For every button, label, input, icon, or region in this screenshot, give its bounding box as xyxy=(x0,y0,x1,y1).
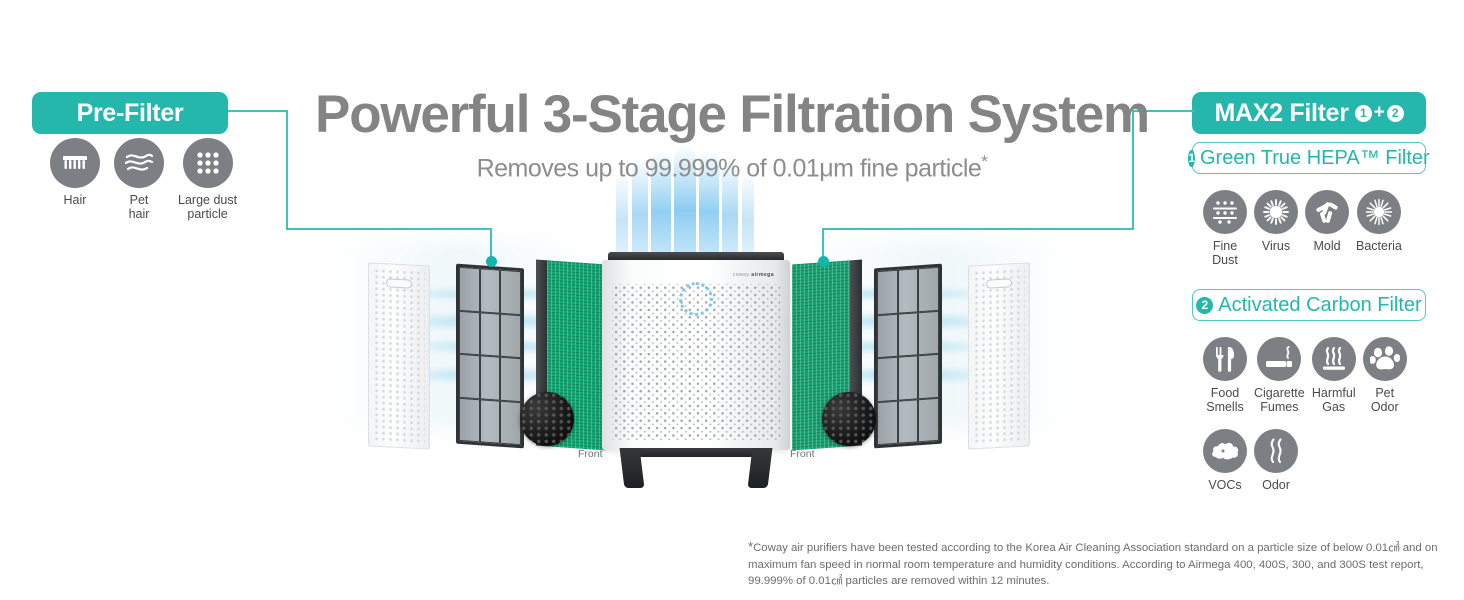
carbon-icon-label: Cigarette Fumes xyxy=(1254,386,1305,415)
airflow-beam xyxy=(742,170,754,262)
carbon-number-icon: 2 xyxy=(1196,297,1213,314)
filter-handle xyxy=(386,278,412,288)
front-label-right: Front xyxy=(790,448,815,460)
carbon-disc-left xyxy=(520,392,574,446)
heat-waves-icon xyxy=(1312,337,1356,381)
carbon-icon-label: Harmful Gas xyxy=(1312,386,1356,415)
brand-name: airmega xyxy=(751,272,774,278)
paw-print-icon-glyph xyxy=(1370,345,1400,373)
brand-prefix: coway xyxy=(733,272,750,278)
hepa-grid xyxy=(877,267,939,445)
fine-dust-icon-glyph xyxy=(1211,199,1239,225)
hepa-icon-label: Fine Dust xyxy=(1212,239,1238,268)
cigarette-icon xyxy=(1257,337,1301,381)
air-purifier-unit: coway airmega xyxy=(602,252,790,464)
hepa-icon-virus: Virus xyxy=(1254,190,1298,268)
carbon-icon-food-smells: Food Smells xyxy=(1203,337,1247,415)
pre-filter-panel-right xyxy=(968,262,1030,449)
unit-body: coway airmega xyxy=(602,260,790,450)
infographic-canvas: Powerful 3-Stage Filtration System Remov… xyxy=(0,0,1464,600)
hepa-filter-panel-right xyxy=(874,264,942,449)
hepa-icon-fine-dust: Fine Dust xyxy=(1203,190,1247,268)
cloud-icon xyxy=(1203,429,1247,473)
heat-waves-icon-glyph xyxy=(1321,345,1347,373)
page-subtitle: Removes up to 99.999% of 0.01μm fine par… xyxy=(0,152,1464,183)
odor-waves-icon-glyph xyxy=(1265,437,1287,465)
bacteria-icon-glyph xyxy=(1364,197,1394,227)
pre-filter-icon-label: Pet hair xyxy=(129,193,150,222)
page-title: Powerful 3-Stage Filtration System xyxy=(0,84,1464,145)
virus-icon-glyph xyxy=(1261,197,1291,227)
carbon-disc-right xyxy=(822,392,876,446)
carbon-icon-harmful-gas: Harmful Gas xyxy=(1312,337,1356,415)
hepa-grid xyxy=(459,267,521,445)
hepa-icon-label: Bacteria xyxy=(1356,239,1402,253)
hepa-icon-row: Fine Dust Virus xyxy=(1203,190,1402,268)
carbon-icon-cigarette-fumes: Cigarette Fumes xyxy=(1254,337,1305,415)
carbon-icon-label: Food Smells xyxy=(1206,386,1244,415)
filter-handle xyxy=(986,278,1012,288)
pre-filter-icon-label: Large dust particle xyxy=(178,193,237,222)
footnote-text: Coway air purifiers have been tested acc… xyxy=(748,542,1438,587)
brand-logo: coway airmega xyxy=(733,272,774,278)
carbon-icon-pet-odor: Pet Odor xyxy=(1363,337,1407,415)
cloud-icon-glyph xyxy=(1210,440,1240,462)
paw-print-icon xyxy=(1363,337,1407,381)
virus-icon xyxy=(1254,190,1298,234)
hepa-icon-label: Virus xyxy=(1262,239,1290,253)
left-connector-dot xyxy=(486,256,497,267)
hepa-icon-bacteria: Bacteria xyxy=(1356,190,1402,268)
carbon-icon-odor: Odor xyxy=(1254,429,1298,492)
filter-clip xyxy=(469,264,482,269)
carbon-icon-row-1: Food Smells Cigarette Fumes xyxy=(1203,337,1407,415)
carbon-icon-label: Pet Odor xyxy=(1371,386,1399,415)
pre-filter-icon-label: Hair xyxy=(64,193,87,207)
odor-waves-icon xyxy=(1254,429,1298,473)
product-scene: Front Front xyxy=(330,180,1070,520)
mold-icon-glyph xyxy=(1313,198,1341,226)
footnote: *Coway air purifiers have been tested ac… xyxy=(748,538,1450,590)
right-connector-dot xyxy=(818,256,829,267)
carbon-icon-vocs: VOCs xyxy=(1203,429,1247,492)
airflow-beam xyxy=(616,170,628,262)
fork-knife-icon xyxy=(1203,337,1247,381)
pre-filter-panel-left xyxy=(368,262,430,449)
subtitle-text: Removes up to 99.999% of 0.01μm fine par… xyxy=(477,154,982,182)
bacteria-icon xyxy=(1357,190,1401,234)
carbon-icon-label: Odor xyxy=(1262,478,1290,492)
carbon-icon-label: VOCs xyxy=(1208,478,1241,492)
unit-base-bar xyxy=(622,448,770,457)
carbon-icon-row-2: VOCs Odor xyxy=(1203,429,1298,492)
mold-icon xyxy=(1305,190,1349,234)
carbon-filter-badge: 2 Activated Carbon Filter xyxy=(1192,289,1426,321)
subtitle-asterisk: * xyxy=(981,152,987,171)
unit-leg-right xyxy=(748,448,773,488)
hepa-icon-mold: Mold xyxy=(1305,190,1349,268)
fork-knife-icon-glyph xyxy=(1213,345,1237,373)
carbon-badge-label: Activated Carbon Filter xyxy=(1218,294,1421,317)
fine-dust-icon xyxy=(1203,190,1247,234)
hepa-icon-label: Mold xyxy=(1313,239,1340,253)
status-light-ring-icon xyxy=(679,282,713,316)
hepa-filter-panel-left xyxy=(456,264,524,449)
front-label-left: Front xyxy=(578,448,603,460)
cigarette-icon-glyph xyxy=(1264,345,1294,373)
